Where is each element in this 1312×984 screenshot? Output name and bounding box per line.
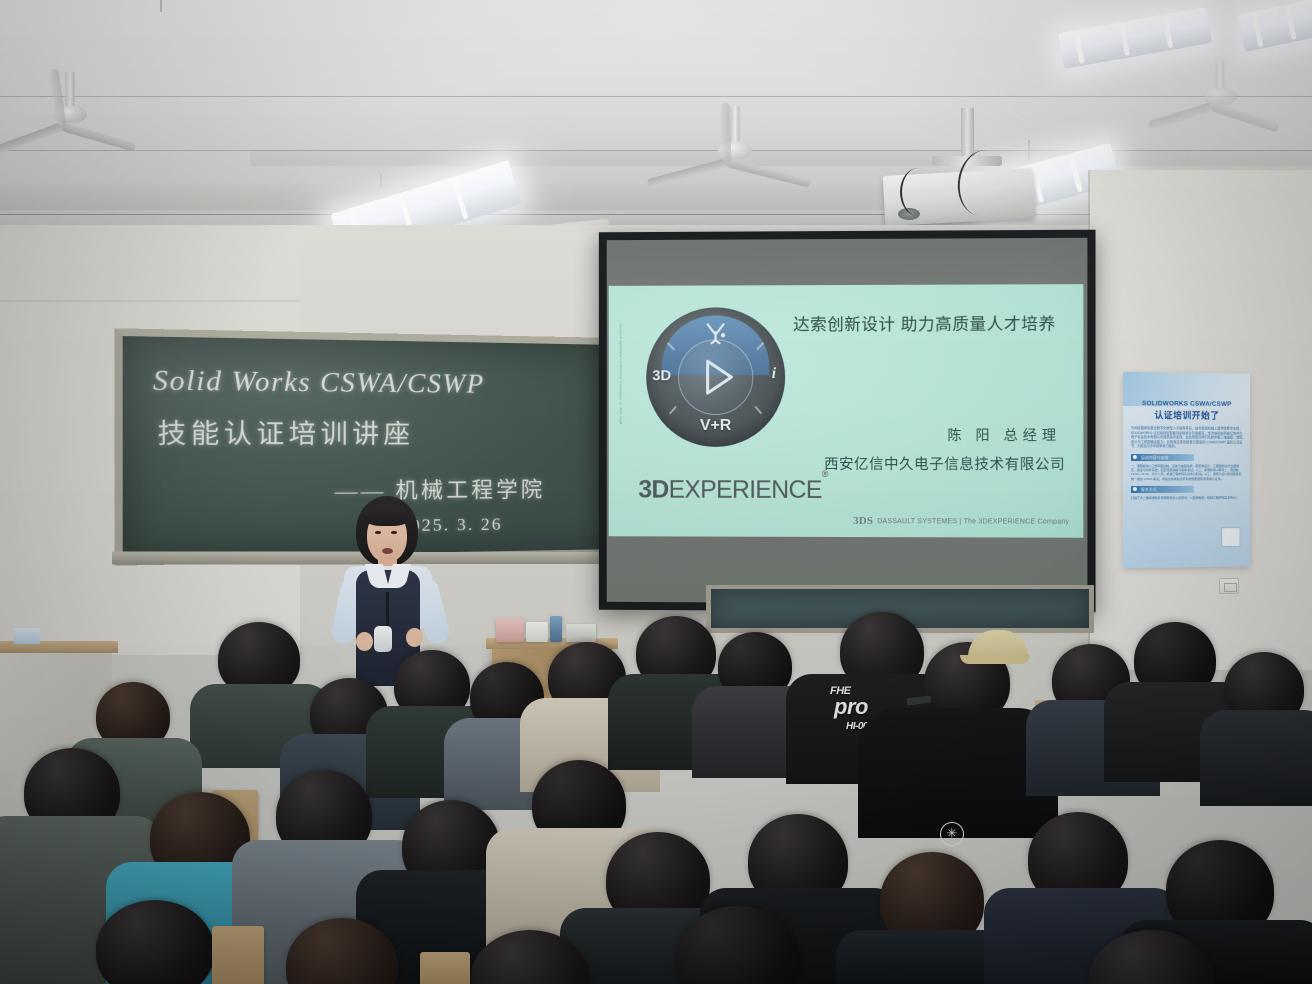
ceiling-fan [660, 106, 810, 216]
slide-footer: 3DS DASSAULT SYSTEMES | The 3DEXPERIENCE… [853, 515, 1069, 528]
wall-poster: SOLIDWORKS CSWA/CSWP 认证培训开始了 为响应国家制造业数字化… [1123, 372, 1250, 568]
chair-back [212, 926, 264, 984]
jacket-text-line2: pro [834, 696, 868, 718]
presentation-slide: Dassault Systèmes confidential informati… [609, 284, 1084, 538]
chalkboard-line-1: Solid Works CSWA/CSWP [153, 365, 485, 400]
ceiling-fan [10, 72, 130, 182]
3dexperience-compass-icon: 3D i V+R [646, 307, 785, 447]
poster-qr-code [1221, 527, 1240, 547]
audience-body [1200, 710, 1312, 806]
ceiling-fan [1150, 60, 1290, 160]
slide-copyright-sidebar: Dassault Systèmes confidential informati… [617, 324, 624, 469]
lecture-hall-scene: Solid Works CSWA/CSWP 技能认证培训讲座 —— 机械工程学院… [0, 0, 1312, 984]
compass-label-3d: 3D [652, 367, 671, 384]
swym-person-icon [703, 321, 729, 345]
wall-seam [0, 300, 300, 302]
poster-paragraph: 为响应国家制造业数字化转型人才培养号召，结合我校机械工程学院教学实践，SOLID… [1131, 426, 1242, 449]
slide-brand-logo: 3DEXPERIENCE® [638, 476, 827, 505]
jacket-logo-icon [940, 822, 964, 846]
projector-cable [900, 168, 936, 216]
compass-label-vr: V+R [700, 417, 731, 435]
student-audience: FHE pro HI-00 [0, 600, 1312, 984]
slide-company-name: 西安亿信中久电子信息技术有限公司 [824, 453, 1065, 474]
poster-section-1: 培训内容与安排 [1131, 454, 1194, 461]
dassault-logo-icon: 3DS [853, 515, 873, 527]
brand-rest: EXPERIENCE [669, 476, 822, 504]
poster-headline-cn: 认证培训开始了 [1131, 408, 1242, 422]
chair-back [420, 952, 470, 984]
brand-bold: 3D [638, 476, 668, 504]
poster-section-2: 报名方式 [1131, 486, 1194, 493]
projection-screen: Dassault Systèmes confidential informati… [599, 230, 1096, 613]
poster-headline-en: SOLIDWORKS CSWA/CSWP [1131, 400, 1242, 408]
presenter-fringe [363, 504, 411, 526]
light-switch-plate[interactable] [1219, 578, 1239, 594]
slide-title: 达索创新设计 助力高质量人才培养 [793, 310, 1056, 335]
presenter-mouth [382, 548, 393, 554]
screen-surface: Dassault Systèmes confidential informati… [607, 238, 1088, 604]
brand-mark: ® [822, 469, 828, 479]
slide-presenter-name: 陈 阳 总经理 [947, 425, 1061, 445]
chalkboard-line-2: 技能认证培训讲座 [158, 412, 415, 451]
slide-footer-text: DASSAULT SYSTEMES | The 3DEXPERIENCE Com… [877, 518, 1069, 526]
poster-body-1: 一、课程模块\n三维草图绘制、实体与曲面建模、装配体设计、工程图标注与出图规范、… [1131, 464, 1242, 481]
compass-label-i: i [772, 365, 776, 383]
projector-mount [961, 108, 974, 160]
poster-body-2: 扫描下方二维码或联系学院教务办公室登记；\n咨询电话：机械工程学院实训中心。 [1131, 495, 1242, 500]
baseball-cap [968, 630, 1028, 664]
